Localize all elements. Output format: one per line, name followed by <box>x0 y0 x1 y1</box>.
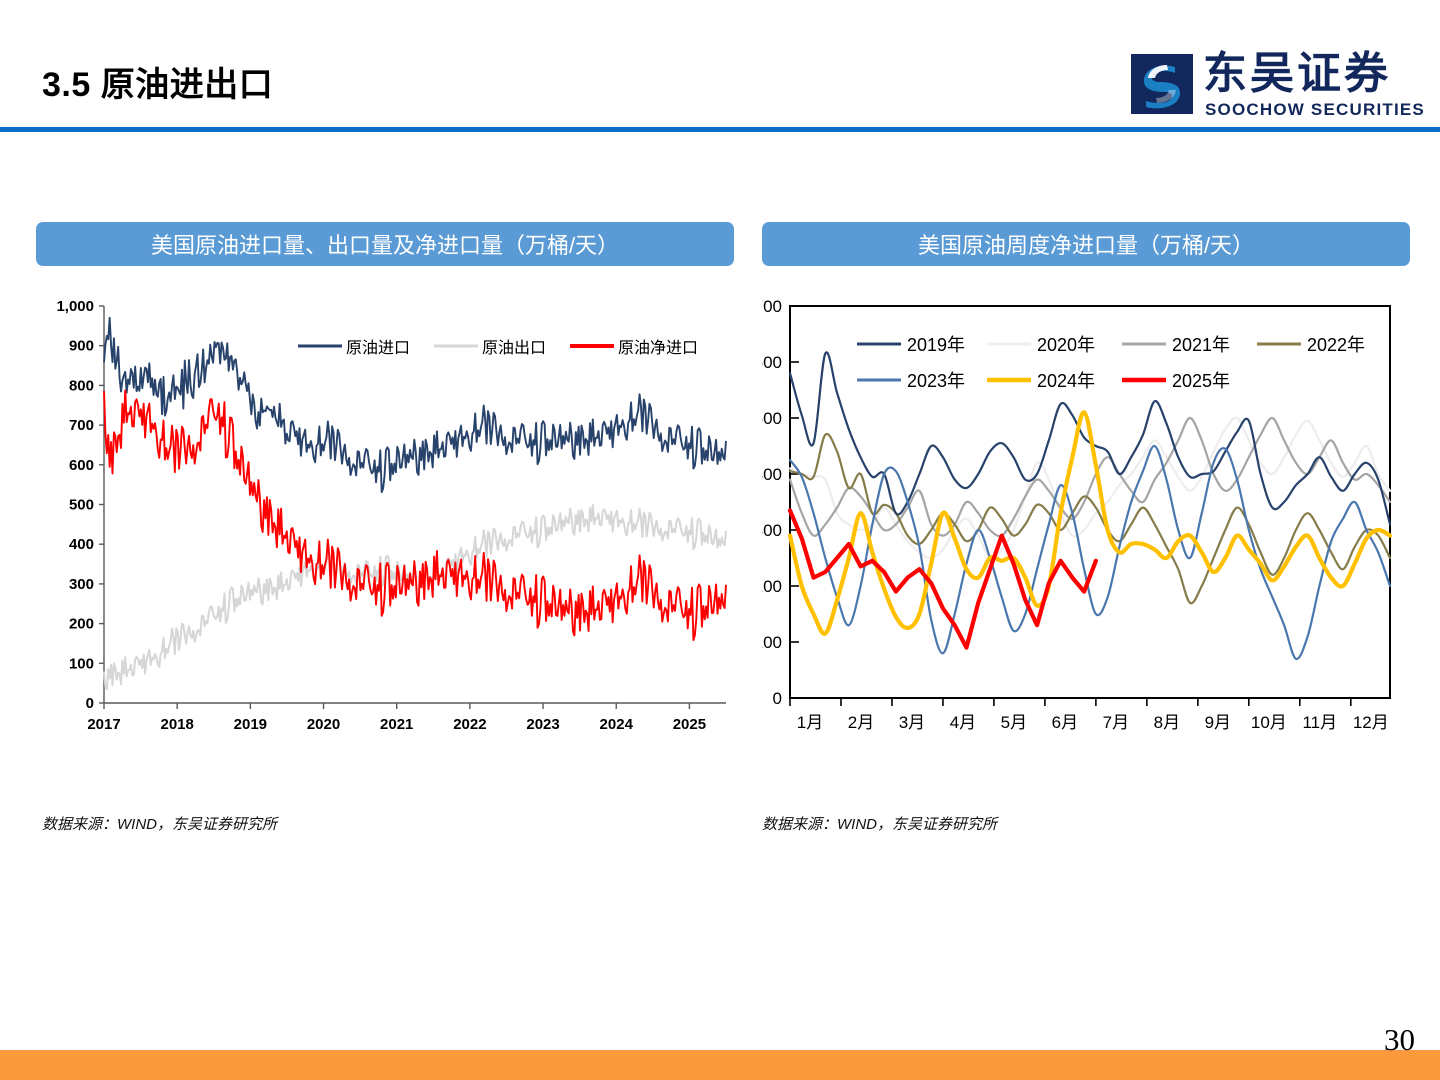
svg-text:2019: 2019 <box>234 716 267 733</box>
svg-text:原油净进口: 原油净进口 <box>618 339 698 357</box>
svg-text:3月: 3月 <box>899 713 925 732</box>
svg-text:900: 900 <box>69 338 94 355</box>
logo-text-en: SOOCHOW SECURITIES <box>1205 100 1425 120</box>
page-number: 30 <box>1384 1022 1415 1058</box>
svg-text:2022: 2022 <box>453 716 486 733</box>
logo-text-cn: 东吴证券 <box>1203 48 1391 100</box>
svg-text:6月: 6月 <box>1052 713 1078 732</box>
source-note-left: 数据来源：WIND，东吴证券研究所 <box>42 813 277 834</box>
svg-text:100: 100 <box>69 655 94 672</box>
svg-text:200: 200 <box>762 577 782 596</box>
svg-text:0: 0 <box>773 689 782 708</box>
svg-text:500: 500 <box>762 409 782 428</box>
footer-bar <box>0 1050 1440 1080</box>
svg-text:2021年: 2021年 <box>1172 335 1230 355</box>
svg-text:2024: 2024 <box>600 716 634 733</box>
brand-logo: 东吴证券 SOOCHOW SECURITIES <box>1131 52 1419 118</box>
svg-text:0: 0 <box>86 695 94 712</box>
slide-header: 3.5 原油进出口 东吴证券 SOOCHOW SECURITIES <box>0 0 1440 129</box>
svg-text:原油出口: 原油出口 <box>482 339 546 357</box>
svg-text:1月: 1月 <box>797 713 823 732</box>
svg-text:2018: 2018 <box>160 716 193 733</box>
svg-text:10月: 10月 <box>1251 713 1287 732</box>
source-note-right: 数据来源：WIND，东吴证券研究所 <box>762 813 997 834</box>
svg-text:300: 300 <box>69 576 94 593</box>
svg-text:2023年: 2023年 <box>907 371 965 391</box>
svg-text:12月: 12月 <box>1353 713 1389 732</box>
page-title: 3.5 原油进出口 <box>42 57 273 106</box>
svg-text:400: 400 <box>69 536 94 553</box>
svg-text:300: 300 <box>762 521 782 540</box>
panel-right: 美国原油周度净进口量（万桶/天） 01002003004005006007001… <box>762 222 1410 758</box>
svg-text:400: 400 <box>762 465 782 484</box>
chart-us-crude-import-export-net: 01002003004005006007008009001,0002017201… <box>36 298 734 758</box>
svg-text:600: 600 <box>762 353 782 372</box>
svg-text:5月: 5月 <box>1001 713 1027 732</box>
svg-text:700: 700 <box>69 417 94 434</box>
svg-text:9月: 9月 <box>1205 713 1231 732</box>
svg-text:600: 600 <box>69 457 94 474</box>
svg-text:200: 200 <box>69 616 94 633</box>
svg-text:11月: 11月 <box>1302 713 1337 732</box>
svg-text:原油进口: 原油进口 <box>346 339 410 357</box>
svg-text:2022年: 2022年 <box>1307 335 1365 355</box>
svg-text:8月: 8月 <box>1154 713 1180 732</box>
panel-left-title: 美国原油进口量、出口量及净进口量（万桶/天） <box>36 222 734 266</box>
svg-text:500: 500 <box>69 497 94 514</box>
svg-text:2020: 2020 <box>307 716 340 733</box>
svg-text:7月: 7月 <box>1103 713 1129 732</box>
svg-text:1,000: 1,000 <box>56 298 94 315</box>
chart-us-crude-weekly-net-import: 01002003004005006007001月2月3月4月5月6月7月8月9月… <box>762 298 1410 758</box>
soochow-logo-mark-icon <box>1131 54 1193 114</box>
svg-text:100: 100 <box>762 633 782 652</box>
svg-text:2025年: 2025年 <box>1172 371 1230 391</box>
panel-right-title: 美国原油周度净进口量（万桶/天） <box>762 222 1410 266</box>
svg-text:4月: 4月 <box>950 713 976 732</box>
svg-text:2019年: 2019年 <box>907 335 965 355</box>
panel-left: 美国原油进口量、出口量及净进口量（万桶/天） 01002003004005006… <box>36 222 734 758</box>
svg-text:800: 800 <box>69 377 94 394</box>
svg-text:2024年: 2024年 <box>1037 371 1095 391</box>
header-divider <box>0 127 1440 132</box>
svg-text:2023: 2023 <box>526 716 559 733</box>
svg-text:2月: 2月 <box>848 713 874 732</box>
svg-text:2021: 2021 <box>380 716 413 733</box>
svg-text:700: 700 <box>762 298 782 316</box>
svg-text:2020年: 2020年 <box>1037 335 1095 355</box>
svg-text:2017: 2017 <box>87 716 120 733</box>
svg-text:2025: 2025 <box>673 716 706 733</box>
